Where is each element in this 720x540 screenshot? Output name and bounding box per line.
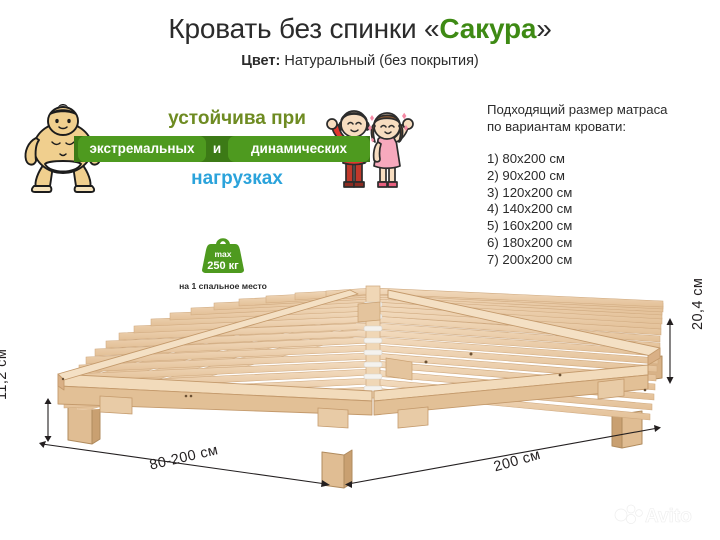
color-label: Цвет:	[241, 53, 280, 69]
list-item: 6) 180x200 см	[487, 235, 712, 252]
list-item: 5) 160x200 см	[487, 218, 712, 235]
avito-watermark: Avito	[612, 500, 712, 528]
list-item: 1) 80x200 см	[487, 151, 712, 168]
quote-open: «	[424, 13, 439, 44]
list-item: 2) 90x200 см	[487, 168, 712, 185]
banner-pill-extreme: экстремальных	[78, 136, 206, 162]
list-item: 4) 140x200 см	[487, 201, 712, 218]
bed-frame-illustration	[0, 262, 720, 512]
banner-line-top: устойчива при	[132, 108, 342, 130]
weight-max-label: max	[214, 249, 231, 259]
product-infographic: Кровать без спинки «Сакура» Цвет: Натура…	[0, 0, 720, 540]
quote-close: »	[536, 13, 551, 44]
mattress-size-list: 1) 80x200 см 2) 90x200 см 3) 120x200 см …	[487, 151, 712, 269]
avito-watermark-text: Avito	[645, 506, 692, 527]
brand-name: Сакура	[439, 13, 536, 44]
color-subtitle: Цвет: Натуральный (без покрытия)	[0, 53, 720, 69]
durability-banner: устойчива при экстремальных и динамическ…	[14, 100, 434, 196]
banner-line-bottom: нагрузках	[132, 168, 342, 190]
mattress-heading-line-1: Подходящий размер матраса	[487, 102, 712, 119]
banner-pill-dynamic: динамических	[228, 136, 370, 162]
dimension-height-label: 11,2 см	[0, 349, 10, 400]
mattress-size-block: Подходящий размер матраса по вариантам к…	[487, 102, 712, 269]
dimension-frame-height-label: 20,4 см	[690, 278, 706, 330]
title-prefix: Кровать без спинки	[168, 13, 424, 44]
list-item: 3) 120x200 см	[487, 185, 712, 202]
banner-conjunction: и	[206, 136, 228, 162]
mattress-heading: Подходящий размер матраса по вариантам к…	[487, 102, 712, 135]
page-title: Кровать без спинки «Сакура»	[0, 13, 720, 45]
color-value: Натуральный (без покрытия)	[280, 53, 478, 69]
mattress-heading-line-2: по вариантам кровати:	[487, 119, 712, 136]
